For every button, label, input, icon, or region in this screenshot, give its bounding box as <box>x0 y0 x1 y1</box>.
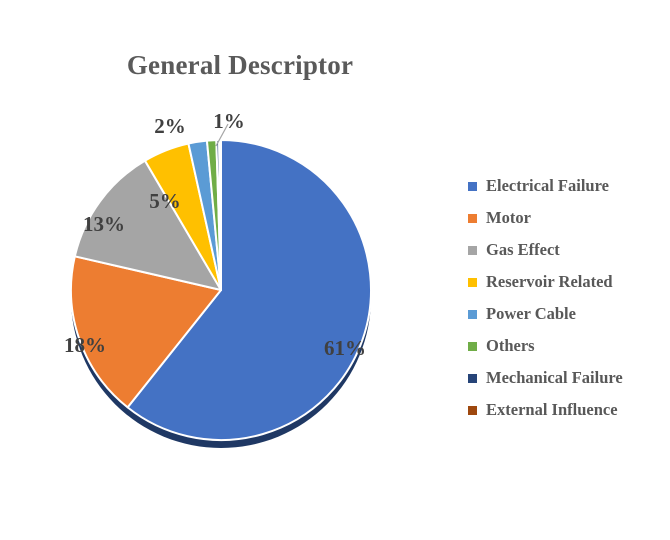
legend-item-label: External Influence <box>486 402 618 419</box>
legend-item-label: Electrical Failure <box>486 178 609 195</box>
slice-label-others: 1% <box>213 109 245 133</box>
pie-chart-svg: 61% 18% 13% 5% 2% 1% <box>0 0 450 540</box>
legend-swatch-icon <box>468 374 477 383</box>
legend-swatch-icon <box>468 214 477 223</box>
legend-item-external-influence[interactable]: External Influence <box>468 394 668 426</box>
legend-item-others[interactable]: Others <box>468 330 668 362</box>
legend-item-label: Others <box>486 338 535 355</box>
legend-swatch-icon <box>468 246 477 255</box>
slice-label-electrical-failure: 61% <box>324 336 366 360</box>
legend-swatch-icon <box>468 406 477 415</box>
pie-chart: 61% 18% 13% 5% 2% 1% <box>0 0 450 540</box>
legend-swatch-icon <box>468 278 477 287</box>
legend-item-label: Gas Effect <box>486 242 560 259</box>
legend-item-label: Power Cable <box>486 306 576 323</box>
legend-item-label: Reservoir Related <box>486 274 613 291</box>
legend-item-power-cable[interactable]: Power Cable <box>468 298 668 330</box>
legend-item-reservoir-related[interactable]: Reservoir Related <box>468 266 668 298</box>
legend-swatch-icon <box>468 182 477 191</box>
slice-label-power-cable: 2% <box>154 114 186 138</box>
legend-swatch-icon <box>468 310 477 319</box>
chart-page: General Descriptor 61% 18% 13% 5% 2% 1% … <box>0 0 670 540</box>
slice-label-motor: 18% <box>64 333 106 357</box>
slice-label-reservoir-related: 5% <box>149 189 181 213</box>
legend-swatch-icon <box>468 342 477 351</box>
legend-item-label: Mechanical Failure <box>486 370 623 387</box>
slice-label-gas-effect: 13% <box>83 212 125 236</box>
legend-item-motor[interactable]: Motor <box>468 202 668 234</box>
legend-item-electrical-failure[interactable]: Electrical Failure <box>468 170 668 202</box>
pie-slices <box>71 140 371 440</box>
legend: Electrical Failure Motor Gas Effect Rese… <box>468 170 668 426</box>
legend-item-gas-effect[interactable]: Gas Effect <box>468 234 668 266</box>
legend-item-mechanical-failure[interactable]: Mechanical Failure <box>468 362 668 394</box>
legend-item-label: Motor <box>486 210 531 227</box>
